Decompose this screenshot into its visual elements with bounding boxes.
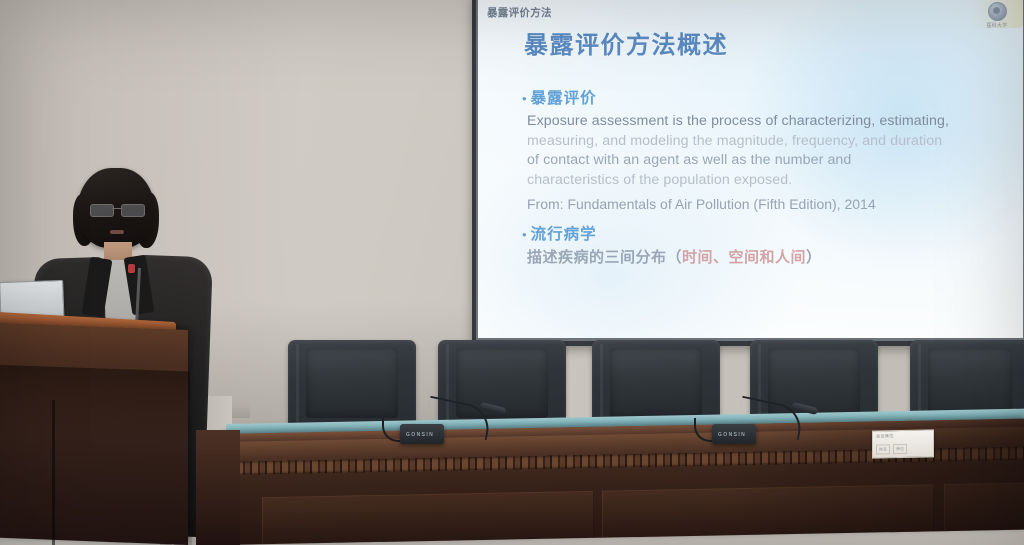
bullet-dot-icon: •: [522, 92, 527, 105]
glasses-bridge: [112, 208, 121, 209]
lapel-mic-icon: [128, 264, 135, 273]
podium-seam: [52, 400, 55, 545]
body-line-2: measuring, and modeling the magnitude, f…: [527, 132, 1023, 152]
lecture-photo-scene: 暴露评价方法 医科大学 暴露评价方法概述 • 暴露评价 Exposure ass…: [0, 0, 1024, 545]
presenter-mouth: [110, 230, 124, 234]
table-name-card: 会议席位 姓名 单位: [872, 429, 934, 458]
podium-shadow: [0, 365, 190, 442]
chinese-suffix: ）: [806, 249, 822, 266]
gonsin-microphone-unit: GONSIN: [400, 392, 510, 444]
university-seal-icon: 医科大学: [977, 2, 1017, 34]
chinese-highlight: 时间、空间和人间: [682, 249, 806, 266]
slide-bullet-1: • 暴露评价: [522, 86, 597, 108]
name-card-fields: 姓名 单位: [876, 443, 930, 454]
bullet-dot-icon: •: [522, 228, 527, 241]
name-card-org-field: 单位: [893, 444, 907, 454]
body-line-3: of contact with an agent as well as the …: [527, 151, 1023, 171]
slide-body-paragraph: Exposure assessment is the process of ch…: [527, 112, 1023, 190]
name-card-title: 会议席位: [876, 432, 930, 439]
projection-screen-frame: 暴露评价方法 医科大学 暴露评价方法概述 • 暴露评价 Exposure ass…: [472, 0, 1024, 346]
lens-left: [90, 204, 114, 217]
name-card-name-field: 姓名: [876, 444, 890, 454]
table-panel: [262, 491, 594, 544]
slide-chinese-body: 描述疾病的三间分布（时间、空间和人间）: [527, 246, 822, 267]
slide-title: 暴露评价方法概述: [524, 25, 728, 60]
presentation-slide: 暴露评价方法 医科大学 暴露评价方法概述 • 暴露评价 Exposure ass…: [478, 0, 1023, 338]
bullet-label-2: 流行病学: [531, 222, 597, 244]
table-left-corner: [196, 430, 240, 545]
seal-emblem: [988, 2, 1007, 21]
slide-header-text: 暴露评价方法: [487, 5, 552, 20]
eyeglasses-icon: [90, 204, 145, 215]
mic-brand-label: GONSIN: [718, 432, 746, 438]
lens-right: [121, 204, 145, 217]
seal-caption: 医科大学: [987, 22, 1008, 29]
mic-brand-label: GONSIN: [406, 432, 434, 438]
chinese-prefix: 描述疾病的三间分布（: [527, 249, 682, 266]
bullet-label-1: 暴露评价: [531, 86, 597, 108]
body-line-4: characteristics of the population expose…: [527, 171, 1023, 191]
body-line-1: Exposure assessment is the process of ch…: [527, 112, 1023, 132]
slide-source-citation: From: Fundamentals of Air Pollution (Fif…: [527, 196, 1023, 212]
slide-bullet-2: • 流行病学: [522, 222, 597, 244]
gonsin-microphone-unit: GONSIN: [712, 386, 822, 444]
